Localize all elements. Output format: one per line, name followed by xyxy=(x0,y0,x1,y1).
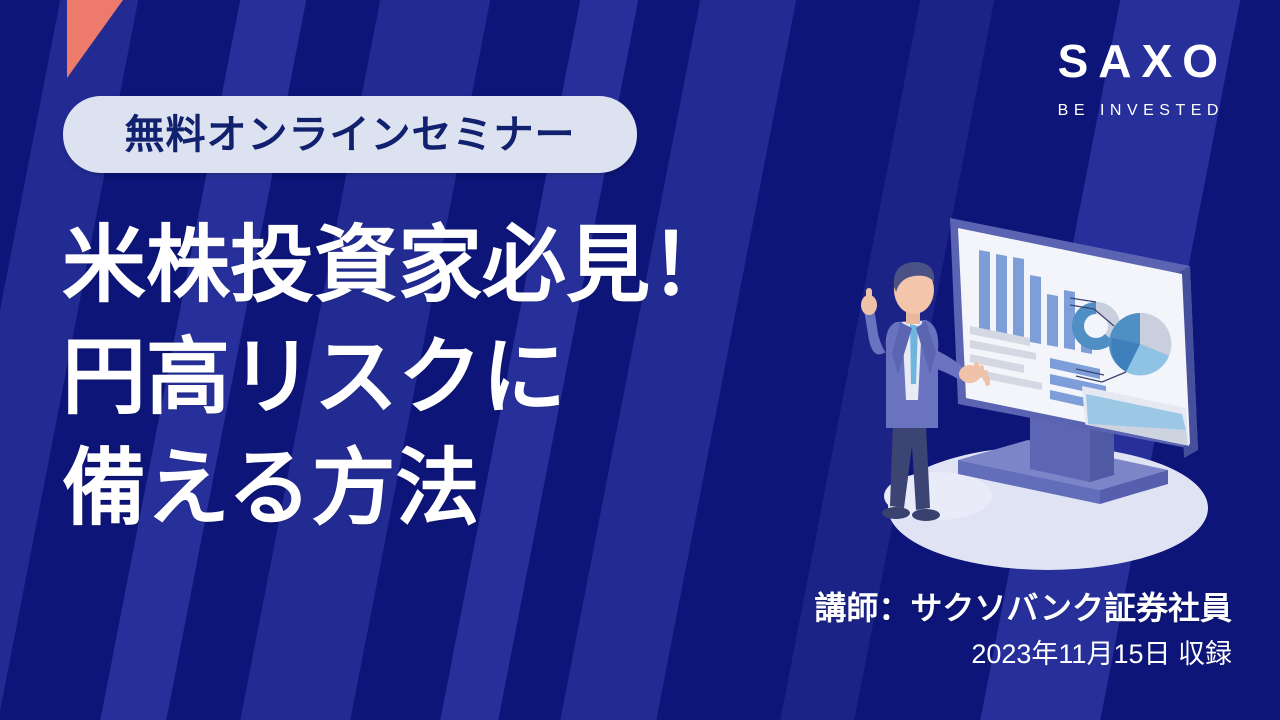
title-line-1: 米株投資家必見！ xyxy=(62,210,842,322)
title-line-2: 円高リスクに xyxy=(62,322,842,434)
seminar-type-badge: 無料オンラインセミナー xyxy=(63,96,637,173)
illustration-svg xyxy=(838,178,1238,578)
title-line-3: 備える方法 xyxy=(62,433,842,545)
coral-corner-triangle-icon xyxy=(0,0,160,90)
saxo-logo: SAXO BE INVESTED xyxy=(1048,38,1228,119)
presenter-finger xyxy=(866,288,872,304)
monitor-screen xyxy=(950,218,1198,458)
credits-block: 講師：サクソバンク証券社員 2023年11月15日 収録 xyxy=(814,590,1232,670)
presenter-shoe-left xyxy=(882,507,910,519)
page-title: 米株投資家必見！ 円高リスクに 備える方法 xyxy=(62,210,842,545)
logo-wordmark: SAXO xyxy=(1048,38,1228,84)
badge-label: 無料オンラインセミナー xyxy=(125,115,576,155)
dashboard-pie-chart xyxy=(1109,313,1171,375)
promo-banner: 無料オンラインセミナー 米株投資家必見！ 円高リスクに 備える方法 SAXO B… xyxy=(0,0,1280,720)
presenter-shoe-right xyxy=(912,509,940,521)
logo-tagline: BE INVESTED xyxy=(1048,103,1228,119)
speaker-text: 講師：サクソバンク証券社員 xyxy=(814,590,1232,627)
presenter-illustration xyxy=(838,178,1238,578)
recording-date-text: 2023年11月15日 収録 xyxy=(814,638,1232,670)
